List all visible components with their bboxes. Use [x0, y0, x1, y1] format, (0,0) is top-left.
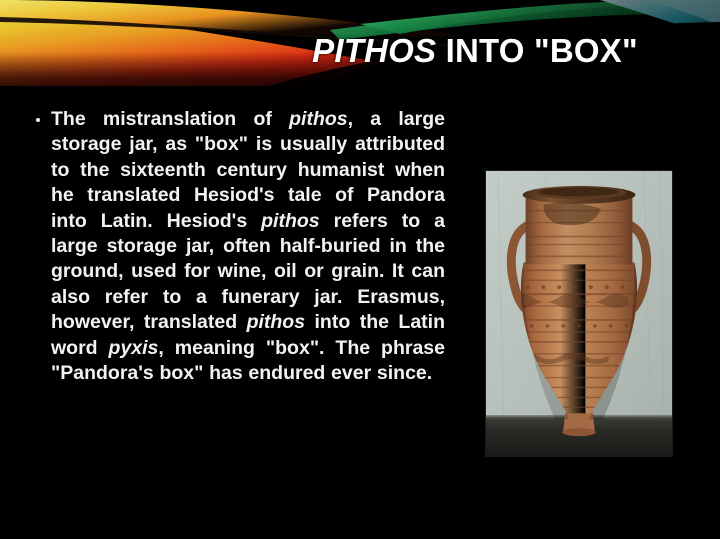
- header-banner: PITHOS INTO "BOX": [0, 0, 720, 95]
- bullet-list-item: The mistranslation of pithos, a large st…: [33, 107, 445, 386]
- emphasis-term: pithos: [247, 311, 306, 333]
- text-run: The mistranslation of: [51, 108, 289, 130]
- pithos-photo: [485, 170, 673, 457]
- bullet-dot-icon: [36, 118, 40, 122]
- page-title: PITHOS INTO "BOX": [270, 31, 680, 71]
- page-title-italic: PITHOS: [312, 32, 436, 69]
- emphasis-term: pithos: [261, 210, 320, 232]
- pithos-illustration: [486, 171, 672, 456]
- page-title-upright: INTO "BOX": [436, 32, 638, 69]
- emphasis-term: pithos: [289, 108, 348, 130]
- presentation-slide: PITHOS INTO "BOX" The mistranslation of …: [0, 0, 720, 539]
- emphasis-term: pyxis: [109, 337, 159, 359]
- body-text-block: The mistranslation of pithos, a large st…: [33, 107, 445, 386]
- body-paragraph: The mistranslation of pithos, a large st…: [51, 107, 445, 386]
